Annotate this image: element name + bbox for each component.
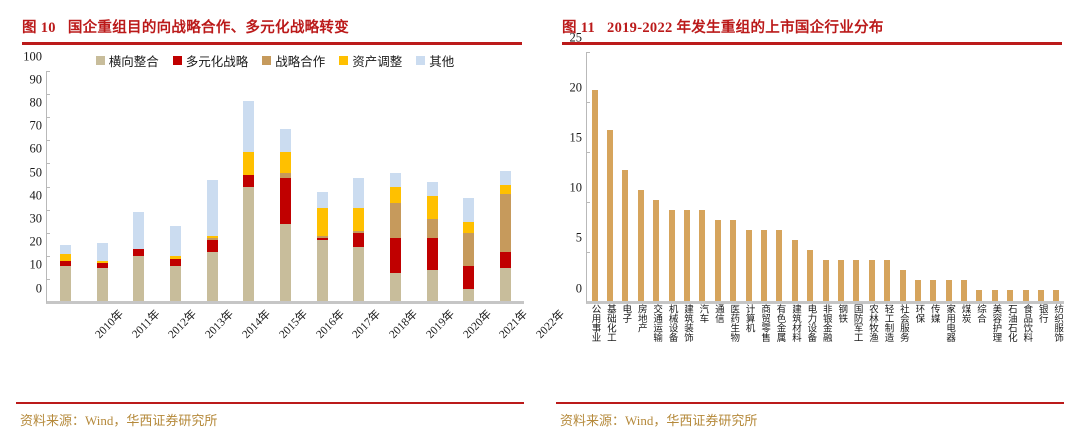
bar-slot (710, 53, 725, 301)
x-axis-label-slot: 轻工制造 (879, 304, 894, 382)
bar-slot (341, 72, 378, 301)
legend-item: 多元化战略 (173, 51, 249, 70)
bar-segment (463, 233, 474, 265)
bar-segment (280, 224, 291, 301)
x-axis-label-slot: 石油石化 (1002, 304, 1017, 382)
bar-segment (500, 194, 511, 252)
bar-segment (207, 240, 218, 252)
x-axis-tick-label: 食品饮料 (1021, 304, 1031, 382)
legend-swatch-icon (416, 56, 425, 65)
figure-11-title-text: 2019-2022 年发生重组的上市国企行业分布 (607, 20, 884, 36)
legend-label: 多元化战略 (186, 51, 249, 70)
legend-item: 资产调整 (339, 51, 402, 70)
bar[interactable] (915, 280, 921, 300)
bar-slot (47, 72, 84, 301)
bar-slot (833, 53, 848, 301)
y-axis-tick-label: 10 (30, 258, 43, 273)
y-axis-tick-label: 20 (570, 80, 583, 95)
legend-swatch-icon (96, 56, 105, 65)
bar-segment (243, 187, 254, 301)
bar[interactable] (776, 230, 782, 300)
x-axis-label-slot: 食品饮料 (1018, 304, 1033, 382)
bar-slot (120, 72, 157, 301)
bar-slot (726, 53, 741, 301)
bar-slot (377, 72, 414, 301)
x-axis-tick-label: 2011年 (128, 306, 163, 341)
bar-segment (463, 222, 474, 234)
x-axis-tick-label: 石油石化 (1005, 304, 1015, 382)
x-axis-label-slot: 环保 (910, 304, 925, 382)
y-axis-tick-label: 50 (30, 165, 43, 180)
bar-segment (427, 238, 438, 270)
bar-slot (756, 53, 771, 301)
bar[interactable] (622, 170, 628, 301)
x-axis-tick-label: 美容护理 (990, 304, 1000, 382)
bar-slot (741, 53, 756, 301)
bar-segment (60, 254, 71, 261)
figure-10-number: 图 10 (22, 20, 56, 36)
stacked-bar[interactable] (390, 173, 401, 301)
bar-slot (818, 53, 833, 301)
bar-segment (353, 178, 364, 208)
y-axis-tick-label: 100 (23, 49, 42, 64)
x-axis-label-slot: 有色金属 (771, 304, 786, 382)
x-axis-label-slot: 机械设备 (663, 304, 678, 382)
x-axis-tick-label: 电子 (620, 304, 630, 382)
x-axis-label-slot: 计算机 (740, 304, 755, 382)
x-axis-tick-label: 环保 (913, 304, 923, 382)
x-axis-label-slot: 商贸零售 (756, 304, 771, 382)
figure-11-source-text: 资料来源：Wind，华西证券研究所 (556, 410, 1064, 429)
x-axis-tick-label: 通信 (712, 304, 722, 382)
bar-slot (194, 72, 231, 301)
x-axis-tick-label: 计算机 (743, 304, 753, 382)
y-axis-tick-label: 0 (576, 281, 582, 296)
figure-10-title-text: 国企重组目的向战略合作、多元化战略转变 (68, 20, 349, 36)
bar[interactable] (946, 280, 952, 300)
bar-segment (133, 212, 144, 249)
x-axis-label-slot: 国防军工 (848, 304, 863, 382)
bar-slot (849, 53, 864, 301)
x-axis-tick-label: 国防军工 (851, 304, 861, 382)
bar-segment (60, 266, 71, 301)
bar[interactable] (715, 220, 721, 300)
bar[interactable] (853, 260, 859, 300)
x-axis-label-slot: 非银金融 (817, 304, 832, 382)
x-axis-label-slot: 建筑装饰 (679, 304, 694, 382)
x-axis-label-slot: 电力设备 (802, 304, 817, 382)
figure-11-panel: 图 112019-2022 年发生重组的上市国企行业分布 0510152025 … (540, 0, 1080, 437)
x-axis-tick-label: 2017年 (348, 306, 384, 342)
bar[interactable] (838, 260, 844, 300)
x-axis-tick-label: 农林牧渔 (867, 304, 877, 382)
legend-swatch-icon (173, 56, 182, 65)
x-axis-tick-label: 社会服务 (897, 304, 907, 382)
legend-item: 横向整合 (96, 51, 159, 70)
bar-segment (243, 152, 254, 175)
y-axis-tick-label: 20 (30, 235, 43, 250)
figure-10-plot-area (46, 72, 524, 304)
x-axis-label-slot: 传媒 (925, 304, 940, 382)
bar-segment (280, 129, 291, 152)
bar-segment (60, 245, 71, 254)
stacked-bar[interactable] (133, 212, 144, 300)
bar[interactable] (1007, 290, 1013, 300)
figure-11-chart: 0510152025 公用事业基础化工电子房地产交通运输机械设备建筑装饰汽车通信… (556, 53, 1064, 382)
x-axis-label-slot: 纺织服饰 (1049, 304, 1064, 382)
bar[interactable] (730, 220, 736, 300)
x-axis-tick-label: 商贸零售 (759, 304, 769, 382)
bar-segment (170, 259, 181, 266)
y-axis-tick-label: 70 (30, 119, 43, 134)
legend-label: 战略合作 (275, 51, 325, 70)
y-axis-tick-label: 0 (36, 281, 42, 296)
x-axis-tick-label: 2015年 (275, 306, 311, 342)
legend-label: 其他 (429, 51, 454, 70)
x-axis-label-slot: 通信 (709, 304, 724, 382)
bar-slot (414, 72, 451, 301)
bar-slot (304, 72, 341, 301)
x-axis-tick-label: 2020年 (459, 306, 495, 342)
stacked-bar[interactable] (317, 192, 328, 301)
figure-11-title-rule (562, 42, 1062, 45)
bar-slot (649, 53, 664, 301)
bar[interactable] (653, 200, 659, 300)
x-axis-tick-label: 综合 (975, 304, 985, 382)
stacked-bar[interactable] (207, 180, 218, 301)
bar-segment (170, 266, 181, 301)
bar[interactable] (607, 130, 613, 301)
bar[interactable] (638, 190, 644, 300)
x-axis-tick-label: 交通运输 (651, 304, 661, 382)
stacked-bar[interactable] (463, 198, 474, 300)
x-axis-tick-label: 机械设备 (666, 304, 676, 382)
stacked-bar[interactable] (500, 171, 511, 301)
bar-segment (317, 240, 328, 300)
bar-segment (207, 180, 218, 236)
y-axis-tick-label: 10 (570, 181, 583, 196)
x-axis-label-slot: 基础化工 (601, 304, 616, 382)
bar[interactable] (1023, 290, 1029, 300)
figure-10-y-axis: 0102030405060708090100 (16, 72, 46, 304)
bar-segment (207, 252, 218, 301)
figure-11-x-axis-labels: 公用事业基础化工电子房地产交通运输机械设备建筑装饰汽车通信医药生物计算机商贸零售… (586, 304, 1064, 382)
figures-page: 图 10国企重组目的向战略合作、多元化战略转变 横向整合多元化战略战略合作资产调… (0, 0, 1080, 437)
figure-10-chart: 0102030405060708090100 2010年2011年2012年20… (16, 72, 524, 366)
bar-slot (1003, 53, 1018, 301)
bar[interactable] (884, 260, 890, 300)
y-axis-tick-label: 80 (30, 95, 43, 110)
bar[interactable] (807, 250, 813, 300)
stacked-bar[interactable] (427, 182, 438, 300)
legend-swatch-icon (339, 56, 348, 65)
x-axis-tick-label: 公用事业 (589, 304, 599, 382)
figure-10-source: 资料来源：Wind，华西证券研究所 (16, 402, 524, 430)
y-axis-tick-label: 15 (570, 130, 583, 145)
x-axis-tick-label: 纺织服饰 (1052, 304, 1062, 382)
bar-slot (679, 53, 694, 301)
bar-segment (500, 252, 511, 268)
y-axis-tick-label: 30 (30, 211, 43, 226)
bar-slot (895, 53, 910, 301)
stacked-bar[interactable] (97, 243, 108, 301)
bar[interactable] (961, 280, 967, 300)
bar-slot (602, 53, 617, 301)
stacked-bar[interactable] (353, 178, 364, 301)
bar-slot (787, 53, 802, 301)
figure-10-source-text: 资料来源：Wind，华西证券研究所 (16, 410, 524, 429)
bar-slot (910, 53, 925, 301)
x-axis-tick-label: 电力设备 (805, 304, 815, 382)
bar[interactable] (976, 290, 982, 300)
bar[interactable] (823, 260, 829, 300)
y-axis-tick-label: 40 (30, 188, 43, 203)
x-axis-tick-label: 2019年 (422, 306, 458, 342)
bar-segment (317, 208, 328, 236)
x-axis-label-slot: 煤炭 (956, 304, 971, 382)
bar-segment (97, 243, 108, 262)
x-axis-tick-label: 家用电器 (944, 304, 954, 382)
bar-segment (317, 192, 328, 208)
bar-segment (353, 208, 364, 231)
x-axis-label-slot: 汽车 (694, 304, 709, 382)
y-axis-tick-label: 25 (570, 30, 583, 45)
bar[interactable] (761, 230, 767, 300)
bar-segment (133, 256, 144, 300)
bar-slot (1049, 53, 1064, 301)
bar-segment (97, 268, 108, 300)
figure-11-y-axis: 0510152025 (556, 53, 586, 304)
bar-slot (864, 53, 879, 301)
bar-slot (618, 53, 633, 301)
bar-segment (463, 266, 474, 289)
bar-slot (695, 53, 710, 301)
y-axis-tick-label: 5 (576, 231, 582, 246)
legend-item: 战略合作 (262, 51, 325, 70)
bar-slot (633, 53, 648, 301)
x-axis-tick-label: 钢铁 (836, 304, 846, 382)
bar-slot (664, 53, 679, 301)
bar[interactable] (900, 270, 906, 300)
x-axis-tick-label: 2012年 (165, 306, 201, 342)
bar[interactable] (869, 260, 875, 300)
bar-slot (987, 53, 1002, 301)
figure-10-panel: 图 10国企重组目的向战略合作、多元化战略转变 横向整合多元化战略战略合作资产调… (0, 0, 540, 437)
bar-slot (230, 72, 267, 301)
bar[interactable] (746, 230, 752, 300)
legend-label: 资产调整 (352, 51, 402, 70)
figure-10-x-axis-labels: 2010年2011年2012年2013年2014年2015年2016年2017年… (46, 304, 524, 366)
figure-10-source-rule (16, 402, 524, 405)
bar-segment (280, 178, 291, 224)
x-axis-tick-label: 银行 (1036, 304, 1046, 382)
bar-slot (879, 53, 894, 301)
bar-slot (956, 53, 971, 301)
bar-segment (463, 198, 474, 221)
x-axis-tick-label: 建筑装饰 (681, 304, 691, 382)
bar-segment (390, 203, 401, 238)
bar-segment (427, 219, 438, 238)
figure-10-legend: 横向整合多元化战略战略合作资产调整其他 (16, 45, 524, 72)
bar[interactable] (592, 90, 598, 301)
figure-11-plot-area (586, 53, 1064, 304)
figure-11-source-rule (556, 402, 1064, 405)
x-axis-label-slot: 社会服务 (894, 304, 909, 382)
figure-10-title: 图 10国企重组目的向战略合作、多元化战略转变 (16, 0, 524, 42)
y-axis-tick-label: 90 (30, 72, 43, 87)
x-axis-label-slot: 银行 (1033, 304, 1048, 382)
bar-slot (941, 53, 956, 301)
stacked-bar[interactable] (170, 226, 181, 300)
x-axis-tick-label: 轻工制造 (882, 304, 892, 382)
bar-segment (427, 182, 438, 196)
x-axis-tick-label: 房地产 (635, 304, 645, 382)
bar-segment (390, 173, 401, 187)
bar[interactable] (669, 210, 675, 300)
bar-segment (463, 289, 474, 301)
x-axis-tick-label: 有色金属 (774, 304, 784, 382)
x-axis-tick-label: 建筑材料 (789, 304, 799, 382)
stacked-bar[interactable] (60, 245, 71, 301)
stacked-bar[interactable] (280, 129, 291, 301)
x-axis-tick-label: 汽车 (697, 304, 707, 382)
bar[interactable] (684, 210, 690, 300)
bar-slot (926, 53, 941, 301)
bar[interactable] (930, 280, 936, 300)
bar-segment (243, 101, 254, 152)
x-axis-label-slot: 交通运输 (648, 304, 663, 382)
bar-segment (427, 270, 438, 300)
x-axis-label-slot: 建筑材料 (786, 304, 801, 382)
bar-slot (267, 72, 304, 301)
x-axis-tick-label: 2013年 (201, 306, 237, 342)
x-axis-tick-label: 2018年 (385, 306, 421, 342)
x-axis-tick-label: 医药生物 (728, 304, 738, 382)
x-axis-label-slot: 医药生物 (725, 304, 740, 382)
bar-segment (427, 196, 438, 219)
figure-11-title: 图 112019-2022 年发生重组的上市国企行业分布 (556, 0, 1064, 42)
x-axis-label-slot: 综合 (972, 304, 987, 382)
x-axis-label-slot: 电子 (617, 304, 632, 382)
legend-swatch-icon (262, 56, 271, 65)
bar-segment (133, 249, 144, 256)
x-axis-tick-label: 2014年 (238, 306, 274, 342)
bar-slot (587, 53, 602, 301)
bar[interactable] (792, 240, 798, 300)
bar[interactable] (699, 210, 705, 300)
y-axis-tick-label: 60 (30, 142, 43, 157)
x-axis-label-slot: 农林牧渔 (864, 304, 879, 382)
x-axis-label-slot: 公用事业 (586, 304, 601, 382)
x-axis-label-slot: 美容护理 (987, 304, 1002, 382)
bar-segment (243, 175, 254, 187)
bar-segment (353, 247, 364, 300)
bar-slot (157, 72, 194, 301)
x-axis-tick-label: 传媒 (928, 304, 938, 382)
bar-segment (170, 226, 181, 256)
bar-slot (802, 53, 817, 301)
bar-slot (451, 72, 488, 301)
bar-slot (487, 72, 524, 301)
stacked-bar[interactable] (243, 101, 254, 300)
bar-segment (280, 152, 291, 173)
x-axis-label-slot: 房地产 (632, 304, 647, 382)
bar[interactable] (1038, 290, 1044, 300)
x-axis-label-slot: 家用电器 (941, 304, 956, 382)
bar-segment (353, 233, 364, 247)
bar-slot (1033, 53, 1048, 301)
figure-11-source: 资料来源：Wind，华西证券研究所 (556, 402, 1064, 430)
x-axis-tick-label: 2021年 (495, 306, 531, 342)
legend-label: 横向整合 (109, 51, 159, 70)
bar-segment (390, 273, 401, 301)
x-axis-tick-label: 基础化工 (604, 304, 614, 382)
x-axis-tick-label: 煤炭 (959, 304, 969, 382)
bar-slot (772, 53, 787, 301)
x-axis-tick-label: 2010年 (91, 306, 127, 342)
x-axis-tick-label: 2016年 (312, 306, 348, 342)
bar-segment (500, 268, 511, 300)
x-axis-label-slot: 钢铁 (833, 304, 848, 382)
legend-item: 其他 (416, 51, 454, 70)
bar-slot (972, 53, 987, 301)
bar-segment (500, 171, 511, 185)
bar[interactable] (1053, 290, 1059, 300)
bar-segment (390, 238, 401, 273)
bar-slot (1018, 53, 1033, 301)
bar-segment (500, 185, 511, 194)
bar[interactable] (992, 290, 998, 300)
bar-slot (84, 72, 121, 301)
x-axis-tick-label: 非银金融 (820, 304, 830, 382)
bar-segment (390, 187, 401, 203)
